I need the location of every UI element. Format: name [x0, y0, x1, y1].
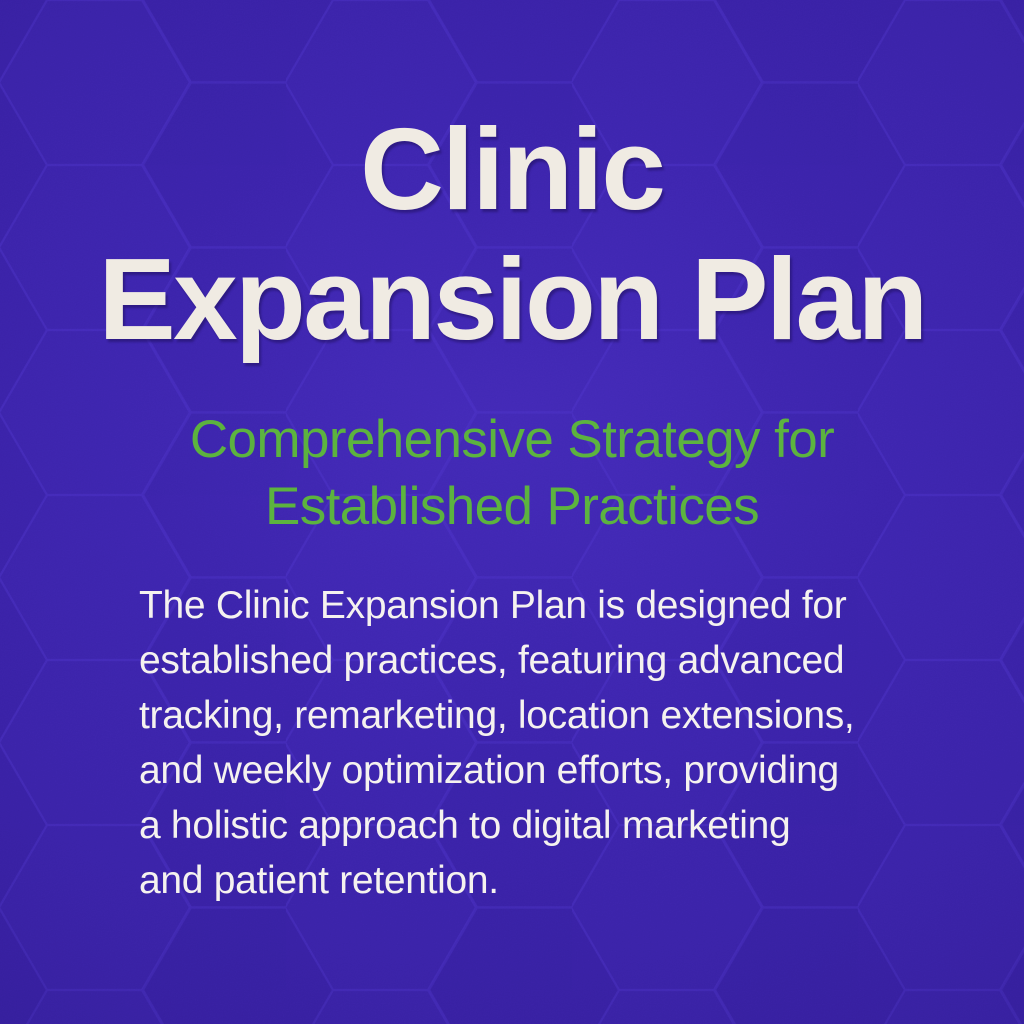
body-line-6: and patient retention. — [139, 853, 899, 908]
body-line-4: and weekly optimization efforts, providi… — [139, 743, 899, 798]
body-line-3: tracking, remarketing, location extensio… — [139, 688, 899, 743]
title-line-2: Expansion Plan — [0, 234, 1024, 364]
page-subtitle: Comprehensive Strategy for Established P… — [0, 406, 1024, 540]
title-line-1: Clinic — [0, 104, 1024, 234]
poster-content: Clinic Expansion Plan Comprehensive Stra… — [0, 0, 1024, 1024]
body-line-1: The Clinic Expansion Plan is designed fo… — [139, 578, 899, 633]
subtitle-line-1: Comprehensive Strategy for — [0, 406, 1024, 473]
body-line-5: a holistic approach to digital marketing — [139, 798, 899, 853]
body-line-2: established practices, featuring advance… — [139, 633, 899, 688]
body-paragraph: The Clinic Expansion Plan is designed fo… — [139, 578, 899, 908]
subtitle-line-2: Established Practices — [0, 473, 1024, 540]
page-title: Clinic Expansion Plan — [0, 104, 1024, 364]
poster-canvas: Clinic Expansion Plan Comprehensive Stra… — [0, 0, 1024, 1024]
